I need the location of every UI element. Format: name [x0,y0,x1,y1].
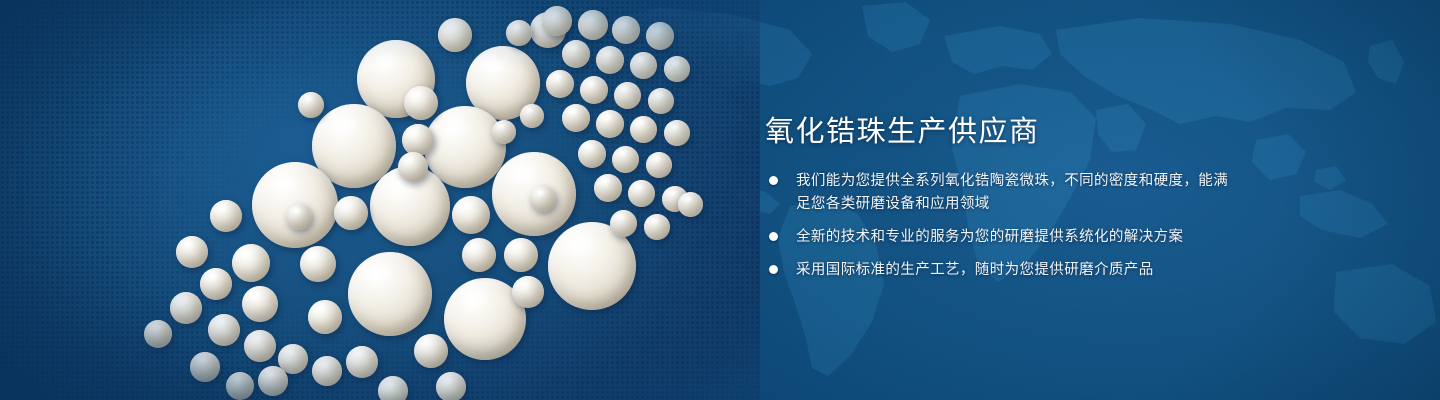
bead [462,238,496,272]
bead [208,314,240,346]
bead [258,366,288,396]
bead [398,152,428,182]
bead [578,10,608,40]
bullet-dot-icon [769,232,778,241]
bead [348,252,432,336]
zirconia-beads-photo [0,0,760,400]
bead [596,110,624,138]
bead [546,70,574,98]
bead [402,124,434,156]
bead [210,200,242,232]
bead [594,174,622,202]
bead [492,120,516,144]
bead [630,116,657,143]
bead [452,196,490,234]
banner-headline: 氧化锆珠生产供应商 [765,108,1040,150]
bead [578,140,606,168]
bullet-dot-icon [769,176,778,185]
bead [176,236,208,268]
feature-bullet-list: 我们能为您提供全系列氧化锆陶瓷微珠，不同的密度和硬度，能满足您各类研磨设备和应用… [765,170,1235,282]
bead [334,196,368,230]
bead [512,276,544,308]
bead [298,92,324,118]
bead [530,186,556,212]
list-item: 采用国际标准的生产工艺，随时为您提供研磨介质产品 [765,259,1235,282]
bead [596,46,624,74]
bead [200,268,232,300]
bullet-dot-icon [769,265,778,274]
bead [614,82,641,109]
bead [232,244,270,282]
bullet-text: 采用国际标准的生产工艺，随时为您提供研磨介质产品 [796,262,1154,278]
bead [664,120,690,146]
bead [244,330,276,362]
bead [226,372,254,400]
bead [170,292,202,324]
bead [612,146,639,173]
beads-cluster [0,0,760,400]
bead [414,334,448,368]
bead [242,286,278,322]
bead [520,104,544,128]
list-item: 全新的技术和专业的服务为您的研磨提供系统化的解决方案 [765,226,1235,249]
bead [542,6,572,36]
bead [438,18,472,52]
bullet-text: 全新的技术和专业的服务为您的研磨提供系统化的解决方案 [796,229,1183,245]
bead [346,346,378,378]
bead [144,320,172,348]
bead [404,86,438,120]
bead [436,372,466,400]
bullet-text: 我们能为您提供全系列氧化锆陶瓷微珠，不同的密度和硬度，能满足您各类研磨设备和应用… [796,173,1228,212]
bead [190,352,220,382]
list-item: 我们能为您提供全系列氧化锆陶瓷微珠，不同的密度和硬度，能满足您各类研磨设备和应用… [765,170,1235,216]
bead [504,238,538,272]
bead [630,52,657,79]
banner-content: 氧化锆珠生产供应商 我们能为您提供全系列氧化锆陶瓷微珠，不同的密度和硬度，能满足… [765,0,1405,400]
bead [300,246,336,282]
bead [628,180,655,207]
bead [562,104,590,132]
bead [312,356,342,386]
bead [612,16,640,44]
bead [646,152,672,178]
bead [610,210,637,237]
bead [562,40,590,68]
bead [644,214,670,240]
bead [308,300,342,334]
bead [286,204,312,230]
bead [506,20,532,46]
bead [646,22,674,50]
bead [678,192,703,217]
hero-banner: 氧化锆珠生产供应商 我们能为您提供全系列氧化锆陶瓷微珠，不同的密度和硬度，能满足… [0,0,1440,400]
bead [648,88,674,114]
bead [664,56,690,82]
bead [378,376,408,400]
bead [580,76,608,104]
